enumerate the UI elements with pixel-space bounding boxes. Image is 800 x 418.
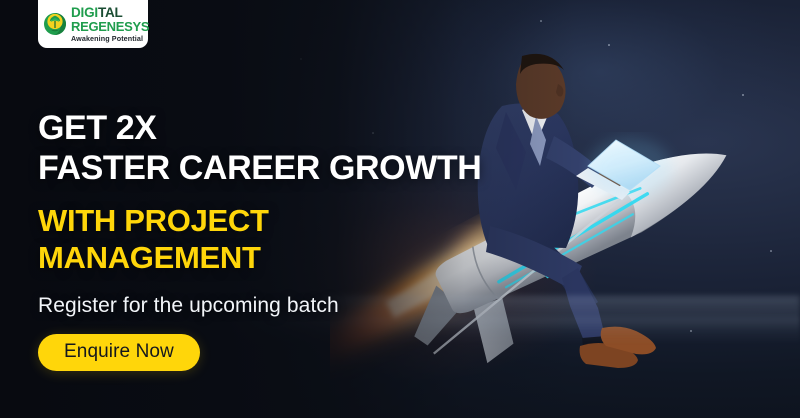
promo-banner: DIGITAL REGENESYS Awakening Potential GE… bbox=[0, 0, 800, 418]
brand-logo-tagline: Awakening Potential bbox=[71, 35, 149, 42]
brand-logo-line2: REGENESYS bbox=[71, 20, 149, 33]
promo-copy: GET 2X FASTER CAREER GROWTH WITH PROJECT… bbox=[38, 108, 508, 371]
subheadline-line-1: WITH PROJECT bbox=[38, 203, 269, 238]
headline-line-2: FASTER CAREER GROWTH bbox=[38, 149, 481, 187]
page-title: GET 2X FASTER CAREER GROWTH bbox=[38, 108, 508, 188]
subheadline: WITH PROJECT MANAGEMENT bbox=[38, 202, 508, 276]
brand-logo-line1: DIGITAL bbox=[71, 6, 149, 20]
subheadline-line-2: MANAGEMENT bbox=[38, 240, 261, 275]
headline-line-1: GET 2X bbox=[38, 109, 157, 147]
enquire-now-button[interactable]: Enquire Now bbox=[38, 334, 200, 371]
tree-circle-emblem-icon bbox=[43, 12, 67, 36]
brand-logo-text: DIGITAL REGENESYS Awakening Potential bbox=[71, 6, 149, 43]
register-text: Register for the upcoming batch bbox=[38, 293, 508, 319]
brand-logo[interactable]: DIGITAL REGENESYS Awakening Potential bbox=[38, 0, 148, 48]
